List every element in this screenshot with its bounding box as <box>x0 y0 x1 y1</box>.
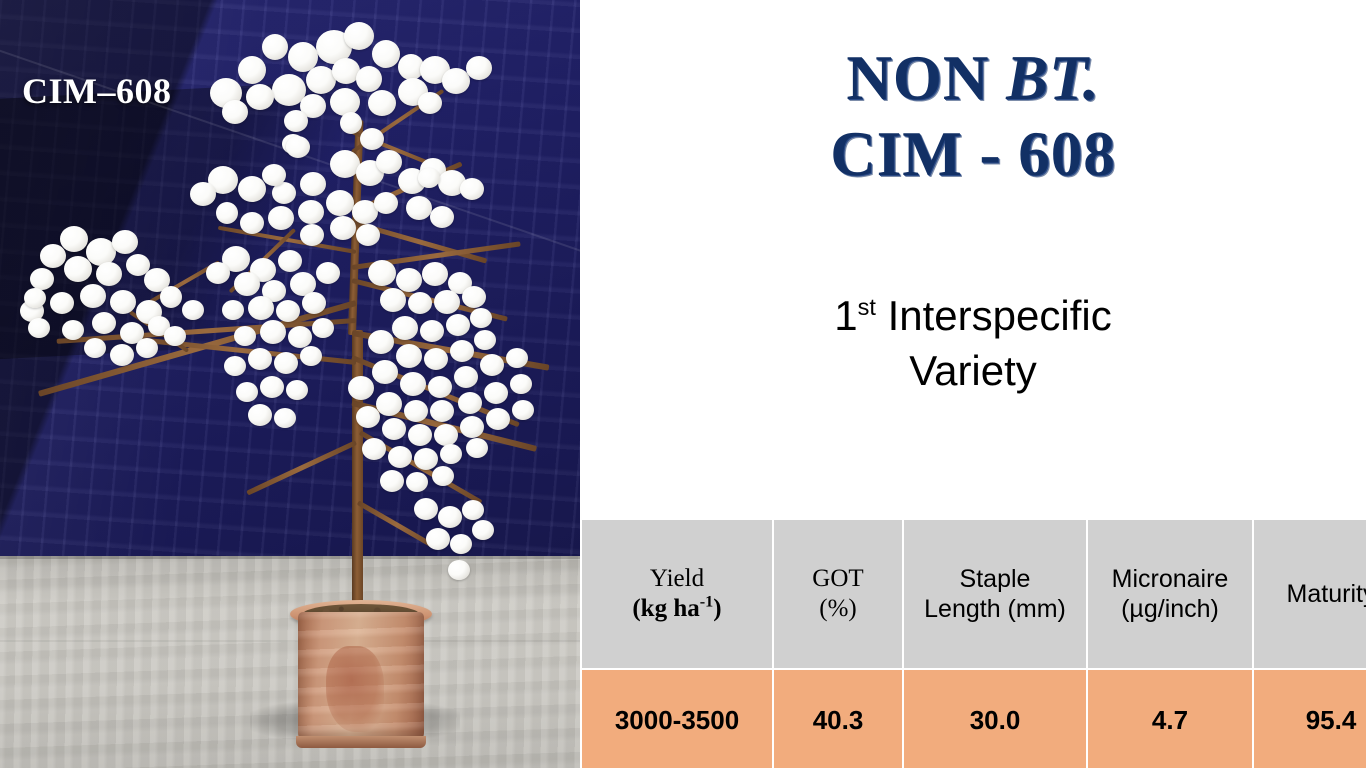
cotton-boll <box>510 374 532 394</box>
cotton-boll <box>376 392 402 416</box>
cotton-boll <box>434 290 460 314</box>
cotton-boll <box>414 498 438 520</box>
cotton-boll <box>420 320 444 342</box>
cotton-boll <box>424 348 448 370</box>
column-header-micronaire-line2: (µg/inch) <box>1121 595 1219 623</box>
cotton-boll <box>160 286 182 308</box>
cotton-boll <box>446 314 470 336</box>
cotton-boll <box>222 300 244 320</box>
cotton-boll <box>112 230 138 254</box>
column-header-maturity-line1: Maturity <box>1287 580 1366 608</box>
cotton-boll <box>362 438 386 460</box>
cotton-boll <box>380 288 406 312</box>
cotton-boll <box>330 88 360 116</box>
cotton-boll <box>382 418 406 440</box>
cotton-boll <box>400 372 426 396</box>
cotton-boll <box>440 444 462 464</box>
cotton-boll <box>474 330 496 350</box>
cotton-boll <box>430 206 454 228</box>
cotton-boll <box>430 400 454 422</box>
cotton-boll <box>248 348 272 370</box>
traits-table: Yield (kg ha-1) GOT (%) Staple Length (m… <box>580 518 1366 768</box>
cotton-boll <box>454 366 478 388</box>
cotton-boll <box>240 212 264 234</box>
cotton-boll <box>260 376 284 398</box>
cotton-boll <box>274 352 298 374</box>
cotton-boll <box>110 290 136 314</box>
pot-base <box>296 736 426 748</box>
cotton-boll <box>50 292 74 314</box>
cotton-boll <box>340 112 362 134</box>
cotton-boll <box>396 268 422 292</box>
title-line-2: CIM - 608 <box>580 122 1366 186</box>
photo-variety-label: CIM–608 <box>22 70 172 112</box>
cotton-boll <box>376 150 402 174</box>
column-header-got: GOT (%) <box>773 519 903 669</box>
cotton-boll <box>222 100 248 124</box>
cotton-boll <box>460 178 484 200</box>
cotton-boll <box>284 110 308 132</box>
cotton-boll <box>216 202 238 224</box>
yield-unit-prefix: (kg ha <box>632 595 699 622</box>
cotton-boll <box>300 224 324 246</box>
cotton-boll <box>470 308 492 328</box>
column-header-micronaire: Micronaire (µg/inch) <box>1087 519 1253 669</box>
cotton-boll <box>316 262 340 284</box>
cotton-boll <box>408 292 432 314</box>
cotton-boll <box>406 196 432 220</box>
slide: CIM–608 NON BT. CIM - 608 1st Interspeci… <box>0 0 1366 768</box>
cotton-boll <box>190 182 216 206</box>
cotton-boll <box>418 168 440 188</box>
plant-branch <box>246 440 357 495</box>
cotton-boll <box>392 316 418 340</box>
cotton-boll <box>426 528 450 550</box>
yield-unit-suffix: ) <box>713 595 721 622</box>
cell-got-value: 40.3 <box>773 669 903 768</box>
cotton-boll <box>298 200 324 224</box>
cotton-boll <box>368 90 396 116</box>
cotton-boll <box>136 338 158 358</box>
cotton-boll <box>406 472 428 492</box>
subtitle-line-1: 1st Interspecific <box>580 288 1366 343</box>
cotton-boll <box>206 262 230 284</box>
cotton-boll <box>418 92 442 114</box>
yield-unit-exponent: -1 <box>700 593 714 611</box>
right-panel: NON BT. CIM - 608 1st Interspecific Vari… <box>580 0 1366 768</box>
cotton-boll <box>224 356 246 376</box>
cotton-boll <box>450 340 474 362</box>
plant-main-stem <box>352 330 363 612</box>
cotton-boll <box>302 292 326 314</box>
cotton-boll <box>472 520 494 540</box>
cotton-boll <box>326 190 354 216</box>
column-header-yield: Yield (kg ha-1) <box>581 519 773 669</box>
column-header-staple-length: Staple Length (mm) <box>903 519 1087 669</box>
cotton-boll <box>64 256 92 282</box>
subtitle: 1st Interspecific Variety <box>580 288 1366 399</box>
cotton-boll <box>388 446 412 468</box>
cotton-boll <box>460 416 484 438</box>
cell-micronaire-value: 4.7 <box>1087 669 1253 768</box>
cotton-boll <box>234 326 256 346</box>
cotton-boll <box>40 244 66 268</box>
cotton-boll <box>278 250 302 272</box>
cotton-boll <box>238 56 266 84</box>
cotton-boll <box>486 408 510 430</box>
cotton-boll <box>372 360 398 384</box>
column-header-maturity: Maturity <box>1253 519 1366 669</box>
table-header-row: Yield (kg ha-1) GOT (%) Staple Length (m… <box>581 519 1366 669</box>
cotton-boll <box>330 216 356 240</box>
table-row: 3000-3500 40.3 30.0 4.7 95.4 <box>581 669 1366 768</box>
column-header-yield-line1: Yield <box>650 565 704 592</box>
cotton-boll <box>368 330 394 354</box>
cotton-boll <box>248 296 274 320</box>
cotton-boll <box>506 348 528 368</box>
cotton-boll <box>404 400 428 422</box>
subtitle-number: 1 <box>834 292 857 339</box>
cotton-boll <box>60 226 88 252</box>
cotton-boll <box>286 136 310 158</box>
column-header-staple-line2: Length (mm) <box>924 595 1066 623</box>
cell-yield-value: 3000-3500 <box>581 669 773 768</box>
cotton-boll <box>466 56 492 80</box>
cotton-boll <box>414 448 438 470</box>
title-block: NON BT. CIM - 608 <box>580 46 1366 187</box>
cotton-boll <box>348 376 374 400</box>
column-header-got-line2: (%) <box>819 595 856 622</box>
cotton-boll <box>372 40 400 68</box>
cotton-boll <box>164 326 186 346</box>
cell-maturity-value: 95.4 <box>1253 669 1366 768</box>
column-header-yield-unit: (kg ha-1) <box>632 595 721 622</box>
cotton-boll <box>28 318 50 338</box>
cotton-boll <box>356 406 380 428</box>
cotton-boll <box>466 438 488 458</box>
cotton-boll <box>374 192 398 214</box>
cotton-boll <box>262 164 286 186</box>
cotton-boll <box>260 320 286 344</box>
cotton-boll <box>432 466 454 486</box>
cotton-boll <box>30 268 54 290</box>
cotton-boll <box>480 354 504 376</box>
traits-table-body: 3000-3500 40.3 30.0 4.7 95.4 <box>581 669 1366 768</box>
cotton-boll <box>356 224 380 246</box>
cotton-boll <box>408 424 432 446</box>
pot-stain <box>326 646 384 732</box>
cotton-plant <box>0 0 580 768</box>
cell-staple-value: 30.0 <box>903 669 1087 768</box>
cotton-boll <box>380 470 404 492</box>
cotton-boll <box>396 344 422 368</box>
cotton-boll <box>110 344 134 366</box>
cotton-boll <box>462 500 484 520</box>
cotton-boll <box>236 382 258 402</box>
cotton-boll <box>344 22 374 50</box>
cotton-boll <box>462 286 486 308</box>
cotton-boll <box>268 206 294 230</box>
cotton-boll <box>248 404 272 426</box>
cotton-boll <box>422 262 448 286</box>
cotton-boll <box>246 84 274 110</box>
cotton-boll <box>428 376 452 398</box>
cotton-boll <box>434 424 458 446</box>
cotton-boll <box>300 346 322 366</box>
cotton-boll <box>288 326 312 348</box>
title-bt: BT. <box>1006 43 1099 113</box>
cotton-boll <box>274 408 296 428</box>
cotton-boll <box>238 176 266 202</box>
cotton-plant-photo: CIM–608 <box>0 0 580 768</box>
cotton-boll <box>448 560 470 580</box>
cotton-boll <box>450 534 472 554</box>
cotton-boll <box>80 284 106 308</box>
cotton-boll <box>484 382 508 404</box>
cotton-boll <box>438 506 462 528</box>
cotton-boll <box>368 260 396 286</box>
title-non: NON <box>846 43 1006 113</box>
column-header-got-line1: GOT <box>812 565 863 592</box>
cotton-boll <box>96 262 122 286</box>
cotton-boll <box>512 400 534 420</box>
cotton-boll <box>182 300 204 320</box>
cotton-boll <box>300 172 326 196</box>
cotton-boll <box>62 320 84 340</box>
subtitle-rest: Interspecific <box>876 292 1112 339</box>
cotton-boll <box>312 318 334 338</box>
cotton-boll <box>84 338 106 358</box>
cotton-boll <box>262 34 288 60</box>
cotton-boll <box>360 128 384 150</box>
cotton-boll <box>92 312 116 334</box>
column-header-micronaire-line1: Micronaire <box>1112 565 1229 593</box>
cotton-boll <box>356 66 382 92</box>
cotton-boll <box>286 380 308 400</box>
cotton-boll <box>276 300 300 322</box>
column-header-staple-line1: Staple <box>960 565 1031 593</box>
traits-table-header: Yield (kg ha-1) GOT (%) Staple Length (m… <box>581 519 1366 669</box>
subtitle-line-2: Variety <box>580 343 1366 398</box>
subtitle-ordinal: st <box>858 294 876 320</box>
title-line-1: NON BT. <box>580 46 1366 110</box>
cotton-boll <box>24 288 46 308</box>
cotton-boll <box>458 392 482 414</box>
cotton-boll <box>234 272 260 296</box>
